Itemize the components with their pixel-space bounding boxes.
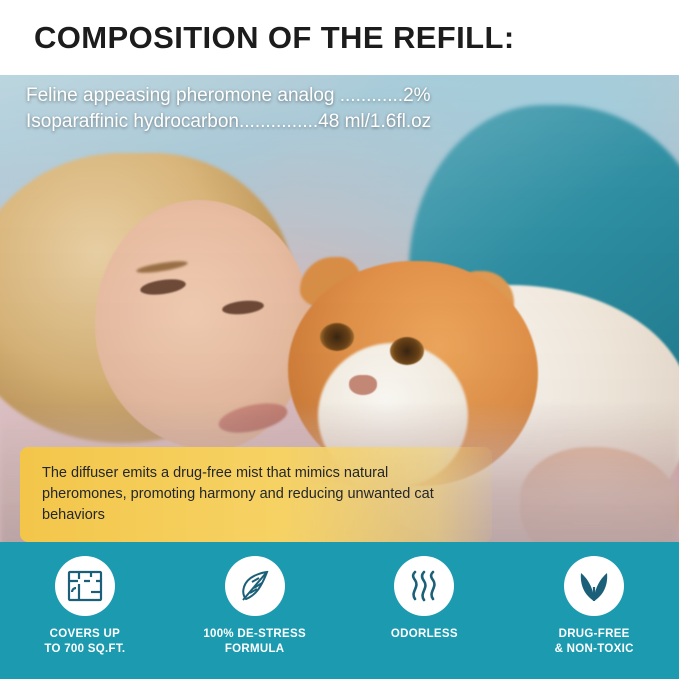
product-infographic-card: COMPOSITION OF THE REFILL: Feline appeas… — [0, 0, 679, 679]
page-title: COMPOSITION OF THE REFILL: — [34, 20, 515, 56]
feature-icon-circle — [564, 556, 624, 616]
feature-label: ODORLESS — [391, 627, 458, 642]
composition-line-1: Feline appeasing pheromone analog ......… — [26, 83, 626, 109]
composition-list: Feline appeasing pheromone analog ......… — [26, 83, 626, 135]
callout-banner: The diffuser emits a drug-free mist that… — [20, 447, 492, 542]
feature-label: COVERS UP TO 700 SQ.FT. — [44, 627, 125, 657]
feature-icon-circle — [225, 556, 285, 616]
feature-drug-free: DRUG-FREE & NON-TOXIC — [509, 542, 679, 657]
feather-icon — [237, 567, 273, 605]
feature-icon-circle — [55, 556, 115, 616]
feature-label: DRUG-FREE & NON-TOXIC — [555, 627, 634, 657]
feature-label: 100% DE-STRESS FORMULA — [203, 627, 306, 657]
composition-line-2: Isoparaffinic hydrocarbon...............… — [26, 109, 626, 135]
feature-odorless: ODORLESS — [340, 542, 510, 642]
feature-coverage: COVERS UP TO 700 SQ.FT. — [0, 542, 170, 657]
feature-destress: 100% DE-STRESS FORMULA — [170, 542, 340, 657]
feature-icon-circle — [394, 556, 454, 616]
feature-strip: COVERS UP TO 700 SQ.FT. 100% DE-STRESS F… — [0, 542, 679, 679]
floorplan-icon — [66, 568, 104, 604]
leaf-icon — [576, 567, 612, 605]
header-bar: COMPOSITION OF THE REFILL: — [0, 0, 679, 75]
vapor-waves-icon — [407, 568, 441, 604]
